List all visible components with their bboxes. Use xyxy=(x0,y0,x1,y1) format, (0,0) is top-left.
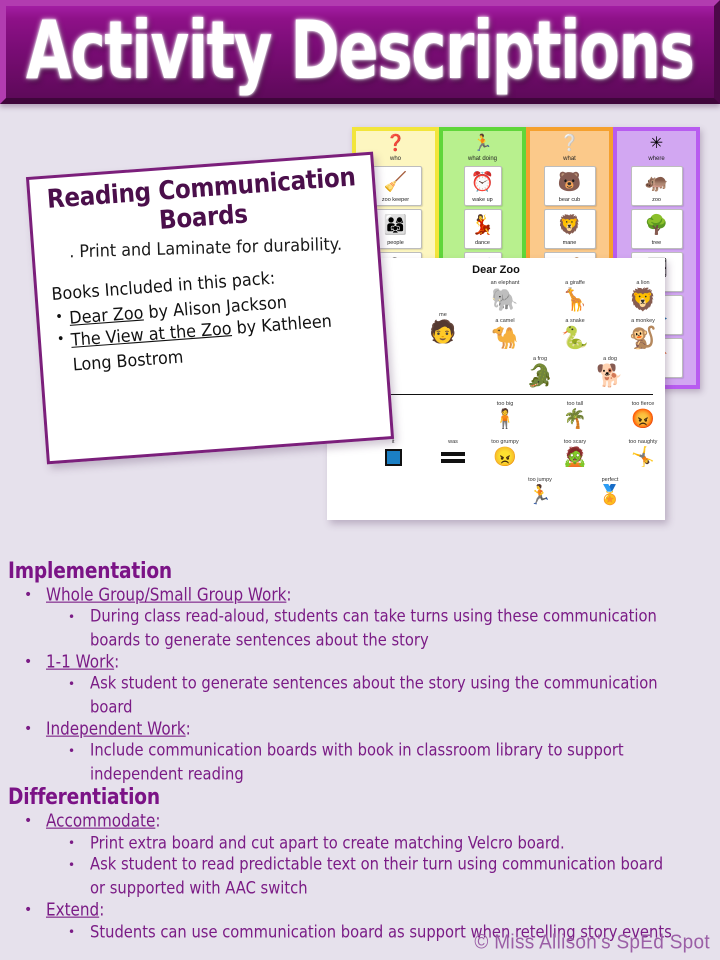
sub-list-item: During class read-aloud, students can ta… xyxy=(46,606,714,650)
symbol-label: zoo keeper xyxy=(382,197,409,204)
symbol-cell[interactable]: a monkey🐒 xyxy=(613,318,673,351)
symbol-cell[interactable]: ⏰wake up xyxy=(464,166,502,206)
a-lion-icon: 🦁 xyxy=(613,287,673,313)
list-item-term: 1-1 Work xyxy=(46,651,114,672)
list-item-term: Whole Group/Small Group Work xyxy=(46,584,286,605)
too-jumpy-icon: 🏃 xyxy=(510,484,570,507)
symbol-cell[interactable]: 🦁mane xyxy=(544,209,596,249)
symbol-label: an elephant xyxy=(475,280,535,287)
symbol-label: too grumpy xyxy=(475,439,535,446)
page-title: Activity Descriptions xyxy=(26,10,694,93)
equals-icon xyxy=(423,446,483,472)
section-item-list: Accommodate:Print extra board and cut ap… xyxy=(8,810,714,943)
symbol-label: me xyxy=(413,312,473,319)
symbol-label: dance xyxy=(475,240,490,247)
symbol-label: too tall xyxy=(545,401,605,408)
people-icon: 👨‍👩‍👧 xyxy=(384,210,408,240)
list-item-term: Independent Work xyxy=(46,718,186,739)
column-header-what: ❔what xyxy=(533,135,606,163)
sub-item-list: Include communication boards with book i… xyxy=(46,740,714,784)
column-header-where: ✳where xyxy=(620,135,693,163)
tree-icon: 🌳 xyxy=(645,210,669,240)
section-heading: Differentiation xyxy=(8,783,665,811)
list-item: Independent Work:Include communication b… xyxy=(8,718,714,784)
symbol-cell[interactable]: too scary🧟 xyxy=(545,439,605,469)
sub-list-item: Include communication boards with book i… xyxy=(46,740,714,784)
symbol-cell[interactable]: too grumpy😠 xyxy=(475,439,535,469)
info-card: Reading Communication Boards . Print and… xyxy=(26,152,394,465)
list-item-label: Accommodate: xyxy=(46,809,160,833)
symbol-label: zoo xyxy=(652,197,661,204)
list-item-suffix: : xyxy=(155,810,160,831)
symbol-cell[interactable]: 🐻bear cub xyxy=(544,166,596,206)
a-snake-icon: 🐍 xyxy=(545,325,605,351)
symbol-label: a monkey xyxy=(613,318,673,325)
symbol-cell[interactable]: 🦛zoo xyxy=(631,166,683,206)
sub-list-item-text: During class read-aloud, students can ta… xyxy=(90,604,683,652)
list-item-suffix: : xyxy=(286,584,291,605)
symbol-label: a camel xyxy=(475,318,535,325)
was-label: was xyxy=(423,439,483,446)
list-item: 1-1 Work:Ask student to generate sentenc… xyxy=(8,651,714,717)
sub-item-list: Print extra board and cut apart to creat… xyxy=(46,832,714,898)
credit-line: © Miss Allison's SpEd Spot xyxy=(474,931,710,954)
symbol-cell[interactable]: a lion🦁 xyxy=(613,280,673,313)
dance-icon: 💃 xyxy=(471,210,495,240)
was-symbol[interactable]: was xyxy=(423,439,483,472)
symbol-cell[interactable]: too naughty🤸 xyxy=(613,439,673,469)
sub-item-list: Ask student to generate sentences about … xyxy=(46,673,714,717)
symbol-cell[interactable]: too big🧍 xyxy=(475,401,535,431)
symbol-cell[interactable]: 🧹zoo keeper xyxy=(370,166,422,206)
me-icon: 🧑 xyxy=(413,319,473,345)
column-header-what-doing: 🏃what doing xyxy=(446,135,519,163)
column-header-label: what doing xyxy=(446,155,519,163)
a-monkey-icon: 🐒 xyxy=(613,325,673,351)
symbol-cell[interactable]: 🌳tree xyxy=(631,209,683,249)
symbol-label: a dog xyxy=(580,356,640,363)
symbol-cell[interactable]: too jumpy🏃 xyxy=(510,477,570,507)
section-item-list: Whole Group/Small Group Work:During clas… xyxy=(8,584,714,784)
symbol-label: a frog xyxy=(510,356,570,363)
symbol-label: bear cub xyxy=(559,197,580,204)
activity-description-body: ImplementationWhole Group/Small Group Wo… xyxy=(8,558,714,943)
symbol-cell[interactable]: me🧑 xyxy=(413,312,473,345)
symbol-label: too scary xyxy=(545,439,605,446)
a-giraffe-icon: 🦒 xyxy=(545,287,605,313)
symbol-cell[interactable]: a dog🐕 xyxy=(580,356,640,389)
symbol-cell[interactable]: too tall🌴 xyxy=(545,401,605,431)
zoo-icon: 🦛 xyxy=(645,167,669,197)
too-big-icon: 🧍 xyxy=(475,408,535,431)
list-item-suffix: : xyxy=(186,718,191,739)
sub-list-item-text: Ask student to generate sentences about … xyxy=(90,671,683,719)
list-item-label: Extend: xyxy=(46,898,104,922)
symbol-label: wake up xyxy=(472,197,493,204)
what-header-icon: ❔ xyxy=(533,135,606,155)
list-item: Accommodate:Print extra board and cut ap… xyxy=(8,810,714,898)
bear-cub-icon: 🐻 xyxy=(558,167,582,197)
zoo-keeper-icon: 🧹 xyxy=(384,167,408,197)
sub-list-item: Print extra board and cut apart to creat… xyxy=(46,832,714,854)
dear-zoo-title: Dear Zoo xyxy=(335,264,657,276)
list-item: Whole Group/Small Group Work:During clas… xyxy=(8,584,714,650)
symbol-label: mane xyxy=(563,240,577,247)
wake-up-icon: ⏰ xyxy=(471,167,495,197)
symbol-label: perfect xyxy=(580,477,640,484)
symbol-cell[interactable]: perfect🏅 xyxy=(580,477,640,507)
perfect-icon: 🏅 xyxy=(580,484,640,507)
mane-icon: 🦁 xyxy=(558,210,582,240)
list-item-suffix: : xyxy=(99,899,104,920)
page-header-banner: Activity Descriptions xyxy=(0,0,720,104)
symbol-cell[interactable]: a camel🐪 xyxy=(475,318,535,351)
sub-list-item: Ask student to generate sentences about … xyxy=(46,673,714,717)
list-item-suffix: : xyxy=(114,651,119,672)
symbol-cell[interactable]: too fierce😡 xyxy=(613,401,673,431)
info-card-title: Reading Communication Boards xyxy=(44,163,361,244)
a-camel-icon: 🐪 xyxy=(475,325,535,351)
an-elephant-icon: 🐘 xyxy=(475,287,535,313)
symbol-cell[interactable]: a frog🐊 xyxy=(510,356,570,389)
symbol-cell[interactable]: 💃dance xyxy=(464,209,502,249)
symbol-label: too fierce xyxy=(613,401,673,408)
symbol-label: a lion xyxy=(613,280,673,287)
too-scary-icon: 🧟 xyxy=(545,446,605,469)
symbol-label: a snake xyxy=(545,318,605,325)
too-grumpy-icon: 😠 xyxy=(475,446,535,469)
section-heading: Implementation xyxy=(8,557,665,585)
symbol-cell[interactable]: a giraffe🦒 xyxy=(545,280,605,313)
sub-list-item-text: Ask student to read predictable text on … xyxy=(90,852,683,900)
column-header-label: what xyxy=(533,155,606,163)
list-item-term: Extend xyxy=(46,899,99,920)
symbol-cell[interactable]: a snake🐍 xyxy=(545,318,605,351)
a-frog-icon: 🐊 xyxy=(510,363,570,389)
symbol-label: too naughty xyxy=(613,439,673,446)
too-fierce-icon: 😡 xyxy=(613,408,673,431)
too-tall-icon: 🌴 xyxy=(545,408,605,431)
too-naughty-icon: 🤸 xyxy=(613,446,673,469)
where-header-icon: ✳ xyxy=(620,135,693,155)
blue-square-icon xyxy=(363,446,423,472)
symbol-label: too big xyxy=(475,401,535,408)
list-item-term: Accommodate xyxy=(46,810,155,831)
symbol-label: tree xyxy=(652,240,661,247)
symbol-cell[interactable]: an elephant🐘 xyxy=(475,280,535,313)
it-symbol[interactable]: it xyxy=(363,439,423,472)
symbol-label: too jumpy xyxy=(510,477,570,484)
column-header-label: where xyxy=(620,155,693,163)
symbol-label: a giraffe xyxy=(545,280,605,287)
a-dog-icon: 🐕 xyxy=(580,363,640,389)
sub-list-item: Ask student to read predictable text on … xyxy=(46,854,714,898)
symbol-label: people xyxy=(387,240,404,247)
sub-list-item-text: Include communication boards with book i… xyxy=(90,738,683,786)
what-doing-header-icon: 🏃 xyxy=(446,135,519,155)
sub-item-list: During class read-aloud, students can ta… xyxy=(46,606,714,650)
